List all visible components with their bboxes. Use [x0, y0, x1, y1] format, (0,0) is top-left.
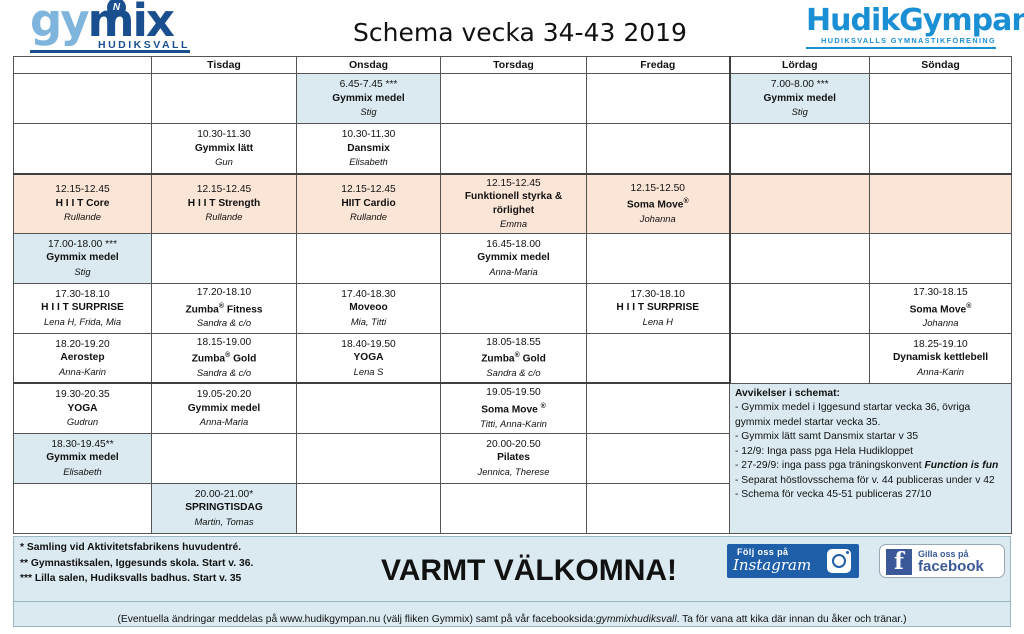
class-time: 17.20-18.10	[155, 286, 293, 300]
gymix-letter-y: y	[60, 0, 87, 47]
legend-line-1: * Samling vid Aktivitetsfabrikens huvude…	[20, 540, 340, 556]
schedule-class-cell: 12.15-12.45HIIT CardioRullande	[297, 174, 441, 234]
notes-line: - 12/9: Inga pass pga Hela Hudikloppet	[735, 445, 1006, 460]
schedule-class-cell: 20.00-21.00*SPRINGTISDAGMartin, Tomas	[152, 483, 297, 533]
class-instructor: Stig	[734, 105, 867, 119]
class-time: 18.40-19.50	[300, 338, 437, 352]
class-instructor: Johanna	[873, 316, 1008, 330]
class-name: Zumba® Gold	[155, 349, 293, 366]
class-instructor: Elisabeth	[17, 465, 148, 479]
class-instructor: Sandra & c/o	[155, 316, 293, 330]
class-name: Dansmix	[300, 142, 437, 156]
class-instructor: Anna-Karin	[873, 365, 1008, 379]
schedule-class-cell: 18.20-19.20AerostepAnna-Karin	[14, 333, 152, 383]
gymix-logo-rule	[30, 50, 190, 53]
schedule-cell	[730, 174, 870, 234]
day-header-sondag: Söndag	[870, 57, 1012, 74]
schedule-cell	[587, 124, 730, 174]
facebook-badge-line2: facebook	[918, 558, 984, 575]
class-name: H I I T Strength	[155, 197, 293, 211]
class-time: 12.15-12.45	[155, 183, 293, 197]
hudikgympan-logo-rule	[806, 47, 996, 49]
class-instructor: Titti, Anna-Karin	[444, 417, 583, 431]
schedule-class-cell: 12.15-12.45H I I T CoreRullande	[14, 174, 152, 234]
schedule-class-cell: 17.30-18.10H I I T SURPRISELena H, Frida…	[14, 283, 152, 333]
class-instructor: Anna-Maria	[155, 415, 293, 429]
day-header-blank	[14, 57, 152, 74]
schedule-cell	[152, 74, 297, 124]
class-time: 10.30-11.30	[300, 128, 437, 142]
footer-legend: * Samling vid Aktivitetsfabrikens huvude…	[20, 540, 340, 587]
disclaimer-text: (Eventuella ändringar meddelas på www.hu…	[117, 602, 906, 625]
class-time: 20.00-21.00*	[155, 488, 293, 502]
class-name: Zumba® Gold	[444, 349, 583, 366]
schedule-cell	[587, 433, 730, 483]
schedule-notes-panel: Avvikelser i schemat:- Gymmix medel i Ig…	[730, 383, 1012, 533]
notes-line: - Gymmix lätt samt Dansmix startar v 35	[735, 430, 1006, 445]
legend-line-3: *** Lilla salen, Hudiksvalls badhus. Sta…	[20, 571, 340, 587]
notes-title: Avvikelser i schemat:	[735, 387, 1006, 402]
class-instructor: Emma	[444, 217, 583, 231]
class-name: H I I T SURPRISE	[17, 301, 148, 315]
schedule-row: 19.30-20.35YOGAGudrun19.05-20.20Gymmix m…	[14, 383, 1012, 433]
class-name: Gymmix medel	[155, 402, 293, 416]
class-instructor: Anna-Karin	[17, 365, 148, 379]
class-instructor: Anna-Maria	[444, 265, 583, 279]
schedule-cell	[297, 383, 441, 433]
class-instructor: Rullande	[155, 210, 293, 224]
legend-line-2: ** Gymnastiksalen, Iggesunds skola. Star…	[20, 556, 340, 572]
class-instructor: Sandra & c/o	[155, 366, 293, 380]
schedule-class-cell: 10.30-11.30Gymmix lättGun	[152, 124, 297, 174]
class-time: 18.25-19.10	[873, 338, 1008, 352]
class-instructor: Gudrun	[17, 415, 148, 429]
class-time: 12.15-12.45	[300, 183, 437, 197]
class-time: 20.00-20.50	[444, 438, 583, 452]
schedule-class-cell: 6.45-7.45 ***Gymmix medelStig	[297, 74, 441, 124]
schedule-class-cell: 18.30-19.45**Gymmix medelElisabeth	[14, 433, 152, 483]
schedule-cell	[297, 233, 441, 283]
class-time: 16.45-18.00	[444, 238, 583, 252]
schedule-cell	[870, 74, 1012, 124]
class-time: 19.05-20.20	[155, 388, 293, 402]
class-time: 19.05-19.50	[444, 386, 583, 400]
schedule-cell	[441, 124, 587, 174]
schedule-class-cell: 18.05-18.55Zumba® GoldSandra & c/o	[441, 333, 587, 383]
class-time: 12.15-12.45	[444, 177, 583, 191]
schedule-class-cell: 17.40-18.30MoveooMia, Titti	[297, 283, 441, 333]
class-time: 7.00-8.00 ***	[734, 78, 867, 92]
class-instructor: Stig	[17, 265, 148, 279]
class-time: 18.15-19.00	[155, 336, 293, 350]
class-name: Pilates	[444, 451, 583, 465]
schedule-cell	[730, 233, 870, 283]
class-name: Zumba® Fitness	[155, 300, 293, 317]
class-time: 12.15-12.45	[17, 183, 148, 197]
class-name: Soma Move ®	[444, 400, 583, 417]
class-time: 18.30-19.45**	[17, 438, 148, 452]
class-time: 19.30-20.35	[17, 388, 148, 402]
schedule-class-cell: 17.30-18.15Soma Move®Johanna	[870, 283, 1012, 333]
facebook-badge[interactable]: f Gilla oss på facebook	[879, 544, 1005, 578]
schedule-class-cell: 12.15-12.45Funktionell styrka & rörlighe…	[441, 174, 587, 234]
day-header-lordag: Lördag	[730, 57, 870, 74]
day-header-torsdag: Torsdag	[441, 57, 587, 74]
day-header-tisdag: Tisdag	[152, 57, 297, 74]
schedule-cell	[870, 174, 1012, 234]
day-header-onsdag: Onsdag	[297, 57, 441, 74]
page-title: Schema vecka 34-43 2019	[300, 18, 740, 47]
schedule-cell	[297, 433, 441, 483]
schedule-class-cell: 20.00-20.50PilatesJennica, Therese	[441, 433, 587, 483]
schedule-table: Tisdag Onsdag Torsdag Fredag Lördag Sönd…	[13, 56, 1012, 534]
instagram-flash-icon	[846, 551, 849, 554]
schedule-class-cell: 18.25-19.10Dynamisk kettlebellAnna-Karin	[870, 333, 1012, 383]
class-name: Soma Move®	[590, 195, 726, 212]
schedule-class-cell: 7.00-8.00 ***Gymmix medelStig	[730, 74, 870, 124]
schedule-cell	[587, 74, 730, 124]
schedule-cell	[730, 283, 870, 333]
class-time: 10.30-11.30	[155, 128, 293, 142]
class-name: Funktionell styrka & rörlighet	[444, 190, 583, 217]
notes-line: - Schema för vecka 45-51 publiceras 27/1…	[735, 488, 1006, 503]
schedule-cell	[730, 333, 870, 383]
schedule-class-cell: 17.20-18.10Zumba® FitnessSandra & c/o	[152, 283, 297, 333]
class-name: Dynamisk kettlebell	[873, 351, 1008, 365]
class-instructor: Lena H, Frida, Mia	[17, 315, 148, 329]
class-name: Gymmix medel	[17, 251, 148, 265]
schedule-cell	[587, 383, 730, 433]
class-instructor: Gun	[155, 155, 293, 169]
disclaimer-part-a: (Eventuella ändringar meddelas på www.hu…	[117, 608, 595, 625]
schedule-cell	[14, 74, 152, 124]
class-name: YOGA	[17, 402, 148, 416]
class-instructor: Rullande	[300, 210, 437, 224]
gymix-wordmark: gymix	[30, 0, 173, 44]
schedule-row: 17.00-18.00 ***Gymmix medelStig16.45-18.…	[14, 233, 1012, 283]
schedule-row: 17.30-18.10H I I T SURPRISELena H, Frida…	[14, 283, 1012, 333]
class-name: Gymmix medel	[444, 251, 583, 265]
class-time: 17.30-18.15	[873, 286, 1008, 300]
class-name: Aerostep	[17, 351, 148, 365]
class-name: Gymmix medel	[17, 451, 148, 465]
schedule-header-row: Tisdag Onsdag Torsdag Fredag Lördag Sönd…	[14, 57, 1012, 74]
schedule-class-cell: 19.30-20.35YOGAGudrun	[14, 383, 152, 433]
instagram-badge-line2: Instagram	[733, 556, 811, 574]
poster-header: gymix N HUDIKSVALL Schema vecka 34-43 20…	[0, 0, 1024, 56]
schedule-cell	[14, 124, 152, 174]
schedule-cell	[14, 483, 152, 533]
class-name: Gymmix medel	[300, 92, 437, 106]
schedule-class-cell: 17.00-18.00 ***Gymmix medelStig	[14, 233, 152, 283]
welcome-message: VARMT VÄLKOMNA!	[334, 554, 724, 588]
class-instructor: Johanna	[590, 212, 726, 226]
disclaimer-bar: (Eventuella ändringar meddelas på www.hu…	[13, 601, 1011, 627]
class-name: YOGA	[300, 351, 437, 365]
hudikgympan-subtitle: HUDIKSVALLS GYMNASTIKFÖRENING	[806, 36, 996, 46]
schedule-row: 6.45-7.45 ***Gymmix medelStig7.00-8.00 *…	[14, 74, 1012, 124]
class-time: 18.20-19.20	[17, 338, 148, 352]
schedule-class-cell: 19.05-20.20Gymmix medelAnna-Maria	[152, 383, 297, 433]
schedule-class-cell: 16.45-18.00Gymmix medelAnna-Maria	[441, 233, 587, 283]
gymix-logo: gymix N HUDIKSVALL	[30, 0, 190, 52]
disclaimer-part-c: . Ta för vana att kika där innan du åker…	[677, 608, 907, 625]
schedule-class-cell: 12.15-12.45H I I T StrengthRullande	[152, 174, 297, 234]
class-instructor: Sandra & c/o	[444, 366, 583, 380]
schedule-cell	[297, 483, 441, 533]
instagram-lens-icon	[832, 554, 846, 568]
class-time: 17.30-18.10	[17, 288, 148, 302]
schedule-row: 10.30-11.30Gymmix lättGun10.30-11.30Dans…	[14, 124, 1012, 174]
schedule-cell	[870, 233, 1012, 283]
schedule-cell	[441, 483, 587, 533]
class-time: 17.40-18.30	[300, 288, 437, 302]
class-instructor: Stig	[300, 105, 437, 119]
class-time: 12.15-12.50	[590, 182, 726, 196]
schedule-cell	[587, 483, 730, 533]
class-time: 17.00-18.00 ***	[17, 238, 148, 252]
hudikgympan-logo: HudikGympan HUDIKSVALLS GYMNASTIKFÖRENIN…	[806, 6, 996, 50]
class-time: 18.05-18.55	[444, 336, 583, 350]
class-instructor: Mia, Titti	[300, 315, 437, 329]
schedule-poster: gymix N HUDIKSVALL Schema vecka 34-43 20…	[0, 0, 1024, 634]
schedule-cell	[730, 124, 870, 174]
class-name: Soma Move®	[873, 300, 1008, 317]
schedule-class-cell: 18.40-19.50YOGALena S	[297, 333, 441, 383]
class-time: 6.45-7.45 ***	[300, 78, 437, 92]
schedule-cell	[587, 233, 730, 283]
schedule-cell	[441, 283, 587, 333]
schedule-class-cell: 18.15-19.00Zumba® GoldSandra & c/o	[152, 333, 297, 383]
instagram-badge[interactable]: Följ oss på Instagram	[727, 544, 859, 578]
notes-line: - Separat höstlovsschema för v. 44 publi…	[735, 474, 1006, 489]
class-instructor: Martin, Tomas	[155, 515, 293, 529]
class-instructor: Rullande	[17, 210, 148, 224]
class-name: H I I T Core	[17, 197, 148, 211]
schedule-class-cell: 17.30-18.10H I I T SURPRISELena H	[587, 283, 730, 333]
class-instructor: Lena S	[300, 365, 437, 379]
notes-line: - 27-29/9: inga pass pga träningskonvent…	[735, 459, 1006, 474]
class-name: Gymmix lätt	[155, 142, 293, 156]
class-name: Gymmix medel	[734, 92, 867, 106]
schedule-cell	[441, 74, 587, 124]
notes-line: - Gymmix medel i Iggesund startar vecka …	[735, 401, 1006, 430]
schedule-row: 12.15-12.45H I I T CoreRullande12.15-12.…	[14, 174, 1012, 234]
class-instructor: Elisabeth	[300, 155, 437, 169]
schedule-cell	[587, 333, 730, 383]
schedule-cell	[152, 433, 297, 483]
disclaimer-handle: gymmixhudiksvall	[596, 614, 677, 625]
class-name: Moveoo	[300, 301, 437, 315]
class-instructor: Jennica, Therese	[444, 465, 583, 479]
schedule-cell	[870, 124, 1012, 174]
class-name: SPRINGTISDAG	[155, 501, 293, 515]
class-instructor: Lena H	[590, 315, 726, 329]
facebook-icon: f	[886, 549, 912, 575]
hudikgympan-wordmark: HudikGympan	[806, 6, 996, 36]
schedule-class-cell: 10.30-11.30DansmixElisabeth	[297, 124, 441, 174]
schedule-class-cell: 19.05-19.50Soma Move ®Titti, Anna-Karin	[441, 383, 587, 433]
class-name: HIIT Cardio	[300, 197, 437, 211]
day-header-fredag: Fredag	[587, 57, 730, 74]
class-name: H I I T SURPRISE	[590, 301, 726, 315]
gymix-letter-g: g	[30, 0, 60, 47]
schedule-cell	[152, 233, 297, 283]
class-time: 17.30-18.10	[590, 288, 726, 302]
schedule-class-cell: 12.15-12.50Soma Move®Johanna	[587, 174, 730, 234]
schedule-row: 18.20-19.20AerostepAnna-Karin18.15-19.00…	[14, 333, 1012, 383]
